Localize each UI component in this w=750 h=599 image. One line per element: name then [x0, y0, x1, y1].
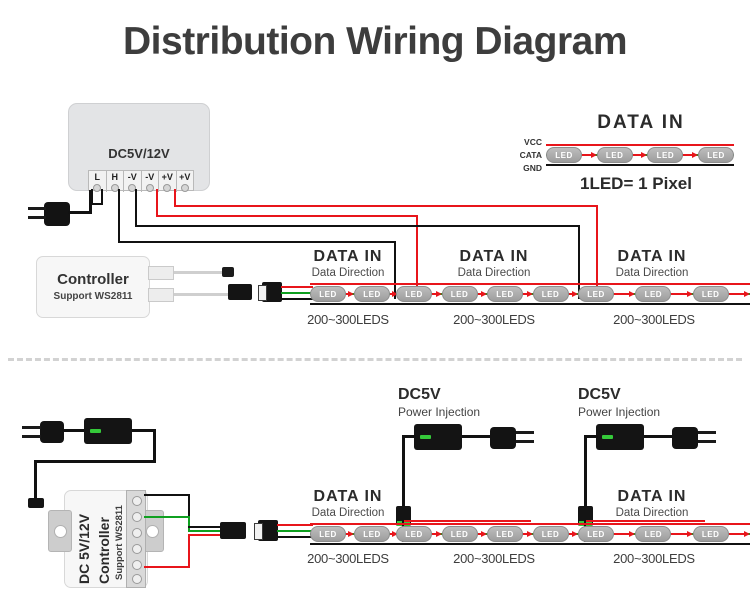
led-count-bottom-3: 200~300LEDS — [598, 551, 710, 566]
strip-led-row: LED LED LED LED — [396, 526, 578, 542]
power-injection-brick-1[interactable] — [414, 424, 462, 450]
led-pill: LED — [310, 526, 346, 542]
data-flow-arrow-icon — [346, 290, 354, 298]
wire-out-black-bottom — [144, 494, 190, 496]
data-flow-arrow-icon — [478, 290, 488, 298]
led-pill: LED — [578, 286, 614, 302]
controller-bottom-line3: Support WS2811 — [114, 505, 125, 580]
controller-title: Controller — [37, 271, 149, 288]
ac-plug-body — [490, 427, 516, 449]
wire-negv-b-run — [135, 225, 269, 227]
pigtail-sleeve-icon — [148, 266, 174, 280]
data-flow-arrow-icon — [683, 151, 698, 159]
connector-wire-black-top — [281, 298, 313, 300]
ac-plug-prong — [22, 426, 41, 429]
legend-footer: 1LED= 1 Pixel — [538, 174, 734, 194]
strip-vcc-line — [546, 144, 734, 146]
strip-led-row: LED LED — [310, 286, 396, 302]
wire-out-red-bend — [188, 534, 190, 568]
strip-led-row: LED LED LED — [578, 526, 750, 542]
wire-out-red-bottom — [144, 566, 190, 568]
power-injection-label-2: DC5V Power Injection — [578, 386, 708, 419]
section-divider — [8, 358, 742, 361]
injection-ac-plug-1 — [490, 424, 548, 452]
data-in-label-top-2: DATA IN Data Direction — [442, 248, 546, 279]
data-flow-arrow-icon — [523, 530, 533, 538]
ac-plug-body — [40, 421, 64, 443]
led-pill: LED — [578, 526, 614, 542]
terminal-pos-v-2[interactable]: +V — [177, 171, 194, 192]
data-in-label-bottom-1: DATA IN Data Direction — [296, 488, 400, 519]
data-direction-text: Data Direction — [296, 267, 400, 279]
strip-gnd-line — [578, 303, 750, 305]
controller-bottom-line2: Controller — [96, 517, 112, 584]
ac-plug-prong — [28, 207, 46, 210]
led-pill: LED — [533, 286, 569, 302]
led-strip-bottom-3: LED LED LED — [578, 521, 750, 547]
data-in-label-top-1: DATA IN Data Direction — [296, 248, 400, 279]
adapter-inlet-cable — [62, 429, 84, 432]
ac-plug-prong — [28, 216, 46, 219]
strip-led-row: LED LED LED — [578, 286, 750, 302]
terminal-label: -V — [128, 172, 137, 182]
terminal-label: L — [95, 172, 101, 182]
connector-wire-red-top — [281, 286, 313, 288]
led-pill: LED — [635, 286, 671, 302]
wire-negv-a-drop — [118, 189, 120, 243]
led-pill: LED — [698, 147, 734, 163]
led-pill: LED — [354, 526, 390, 542]
legend-pin-cata: CATA — [508, 150, 542, 160]
mount-hole-icon — [146, 525, 159, 538]
controller-bottom-line1: DC 5V/12V — [76, 514, 92, 584]
terminal-screw-icon — [146, 184, 154, 192]
pigtail-sleeve-icon — [148, 288, 174, 302]
connector-male-top[interactable] — [228, 284, 252, 300]
data-direction-text: Data Direction — [600, 267, 704, 279]
data-in-title: DATA IN — [296, 248, 400, 266]
terminal-screw-icon[interactable] — [132, 512, 142, 522]
data-flow-arrow-icon — [633, 151, 648, 159]
wire-line-h — [101, 189, 103, 203]
data-flow-arrow-icon — [582, 151, 597, 159]
led-count-top-3: 200~300LEDS — [598, 312, 710, 327]
adapter-status-led-icon — [90, 429, 101, 433]
led-pill: LED — [693, 286, 729, 302]
ac-plug-prong — [698, 431, 716, 434]
wire-negv-b-drop — [135, 189, 137, 227]
led-pill: LED — [396, 286, 432, 302]
led-pill: LED — [442, 526, 478, 542]
data-flow-arrow-icon — [729, 290, 750, 298]
terminal-screw-icon — [181, 184, 189, 192]
wire-line-join — [89, 203, 103, 205]
terminal-screw-icon[interactable] — [132, 544, 142, 554]
led-count-top-2: 200~300LEDS — [438, 312, 550, 327]
ac-plug-body — [672, 427, 698, 449]
adapter-status-led-icon — [602, 435, 613, 439]
led-count-bottom-1: 200~300LEDS — [292, 551, 404, 566]
terminal-label: H — [112, 172, 119, 182]
data-flow-arrow-icon — [729, 530, 750, 538]
connector-wire-green-top — [281, 292, 313, 294]
dc-barrel-plug-icon — [28, 498, 44, 508]
data-direction-text: Data Direction — [296, 507, 400, 519]
data-flow-arrow-icon — [671, 530, 692, 538]
strip-gnd-line — [310, 303, 396, 305]
data-direction-text: Data Direction — [442, 267, 546, 279]
ac-plug-prong — [516, 431, 534, 434]
wire-out-green-bottom — [144, 516, 190, 518]
terminal-screw-icon[interactable] — [132, 528, 142, 538]
led-pill: LED — [533, 526, 569, 542]
data-flow-arrow-icon — [523, 290, 533, 298]
strip-gnd-line — [546, 164, 734, 166]
controller-pigtail-upper — [148, 266, 234, 278]
led-strip-top-2: LED LED LED LED — [396, 281, 578, 307]
injection-plug-cable-1 — [462, 435, 492, 438]
led-pill: LED — [487, 286, 523, 302]
strip-gnd-line — [310, 543, 396, 545]
wire-line-l — [91, 189, 93, 203]
terminal-label: +V — [179, 172, 190, 182]
data-flow-arrow-icon — [671, 290, 692, 298]
injection-plug-cable-2 — [644, 435, 674, 438]
strip-vcc-line — [578, 283, 750, 285]
pigtail-cable — [170, 271, 226, 274]
data-direction-text: Data Direction — [600, 507, 704, 519]
ac-plug-prong — [698, 440, 716, 443]
legend-panel: DATA IN VCC CATA GND LED LED LED LED 1LE… — [508, 112, 734, 196]
power-injection-brick-2[interactable] — [596, 424, 644, 450]
strip-gnd-line — [578, 543, 750, 545]
injection-subtitle: Power Injection — [398, 405, 528, 419]
led-pill: LED — [693, 526, 729, 542]
connector-wire-red-bottom — [277, 524, 313, 526]
connector-wire-black-bottom — [277, 536, 313, 538]
wire-bundle-green — [188, 530, 220, 532]
data-flow-arrow-icon — [569, 530, 579, 538]
strip-vcc-line — [396, 283, 578, 285]
led-pill: LED — [546, 147, 582, 163]
adapter-cable-run-left — [34, 460, 156, 463]
adapter-cable-drop — [153, 429, 156, 463]
power-supply-terminal-strip[interactable]: L H -V -V +V +V — [88, 170, 194, 191]
terminal-label: +V — [162, 172, 173, 182]
wire-posv-a-drop — [156, 189, 158, 217]
led-pill: LED — [635, 526, 671, 542]
power-adapter-brick-bottom[interactable] — [84, 418, 132, 444]
wire-posv-b-riser — [596, 205, 598, 289]
connector-male-bottom[interactable] — [220, 522, 246, 539]
terminal-neg-v-1[interactable]: -V — [124, 171, 142, 192]
led-pill: LED — [354, 286, 390, 302]
led-count-top-1: 200~300LEDS — [292, 312, 404, 327]
data-flow-arrow-icon — [478, 530, 488, 538]
led-strip-top-1: LED LED — [310, 281, 396, 307]
led-pill: LED — [310, 286, 346, 302]
controller-box-top: Controller Support WS2811 — [36, 256, 150, 318]
controller-terminal-column[interactable] — [126, 490, 146, 588]
terminal-h[interactable]: H — [107, 171, 125, 192]
data-in-title: DATA IN — [442, 248, 546, 266]
connector-pins-bottom — [254, 523, 263, 540]
injection-drop-2 — [584, 435, 587, 517]
controller-mount-lug-left — [48, 510, 72, 552]
data-flow-arrow-icon — [346, 530, 354, 538]
legend-pin-vcc: VCC — [508, 137, 542, 147]
injection-subtitle: Power Injection — [578, 405, 708, 419]
led-pill: LED — [396, 526, 432, 542]
ac-plug-bottom — [22, 418, 82, 448]
led-strip-top-3: LED LED LED — [578, 281, 750, 307]
injection-drop-1 — [402, 435, 405, 517]
strip-led-row: LED LED LED LED — [396, 286, 578, 302]
adapter-cable-to-controller — [34, 460, 37, 502]
data-flow-arrow-icon — [432, 290, 442, 298]
legend-pin-gnd: GND — [508, 163, 542, 173]
data-in-title: DATA IN — [296, 488, 400, 506]
led-pill: LED — [487, 526, 523, 542]
ac-plug-body — [44, 202, 70, 226]
terminal-screw-icon[interactable] — [132, 496, 142, 506]
injection-ac-plug-2 — [672, 424, 730, 452]
led-pill: LED — [597, 147, 633, 163]
data-in-title: DATA IN — [600, 488, 704, 506]
data-in-label-bottom-2: DATA IN Data Direction — [600, 488, 704, 519]
led-pill: LED — [442, 286, 478, 302]
strip-vcc-line — [310, 523, 396, 525]
strip-gnd-line — [396, 303, 578, 305]
connector-pins-top — [258, 285, 267, 301]
data-in-label-top-3: DATA IN Data Direction — [600, 248, 704, 279]
strip-led-row: LED LED — [310, 526, 396, 542]
wire-gnd-seg3-run — [269, 225, 580, 227]
data-flow-arrow-icon — [614, 530, 635, 538]
data-in-title: DATA IN — [600, 248, 704, 266]
led-pill: LED — [647, 147, 683, 163]
wire-negv-a-run — [118, 241, 270, 243]
power-supply-label: DC5V/12V — [69, 146, 209, 161]
terminal-screw-icon[interactable] — [132, 574, 142, 584]
wire-gnd-seg2-run — [270, 241, 396, 243]
data-flow-arrow-icon — [569, 290, 579, 298]
injection-title: DC5V — [578, 386, 708, 404]
wire-posv-a-run — [156, 215, 418, 217]
power-injection-label-1: DC5V Power Injection — [398, 386, 528, 419]
terminal-screw-icon[interactable] — [132, 560, 142, 570]
ac-plug-prong — [516, 440, 534, 443]
strip-gnd-line — [396, 543, 578, 545]
wire-posv-b-run — [174, 205, 598, 207]
strip-vcc-line — [396, 523, 578, 525]
adapter-status-led-icon — [420, 435, 431, 439]
strip-vcc-line — [310, 283, 396, 285]
data-flow-arrow-icon — [614, 290, 635, 298]
controller-subtitle: Support WS2811 — [37, 291, 149, 302]
strip-led-row: LED LED LED LED — [546, 147, 734, 163]
mount-hole-icon — [54, 525, 67, 538]
wire-bundle-red — [188, 534, 220, 536]
terminal-screw-icon — [163, 184, 171, 192]
ac-plug-prong — [22, 435, 41, 438]
connector-wire-green-bottom — [277, 530, 313, 532]
terminal-label: -V — [145, 172, 154, 182]
data-flow-arrow-icon — [432, 530, 442, 538]
led-strip-bottom-2: LED LED LED LED — [396, 521, 578, 547]
legend-title: DATA IN — [548, 112, 734, 134]
page-title: Distribution Wiring Diagram — [0, 20, 750, 64]
legend-led-strip: LED LED LED LED — [546, 142, 734, 168]
wire-bundle-black — [188, 526, 220, 528]
pigtail-end-cap-icon — [222, 267, 234, 277]
injection-title: DC5V — [398, 386, 528, 404]
strip-vcc-line — [578, 523, 750, 525]
led-count-bottom-2: 200~300LEDS — [438, 551, 550, 566]
wire-line-to-plug — [89, 203, 91, 211]
led-strip-bottom-1: LED LED — [310, 521, 396, 547]
